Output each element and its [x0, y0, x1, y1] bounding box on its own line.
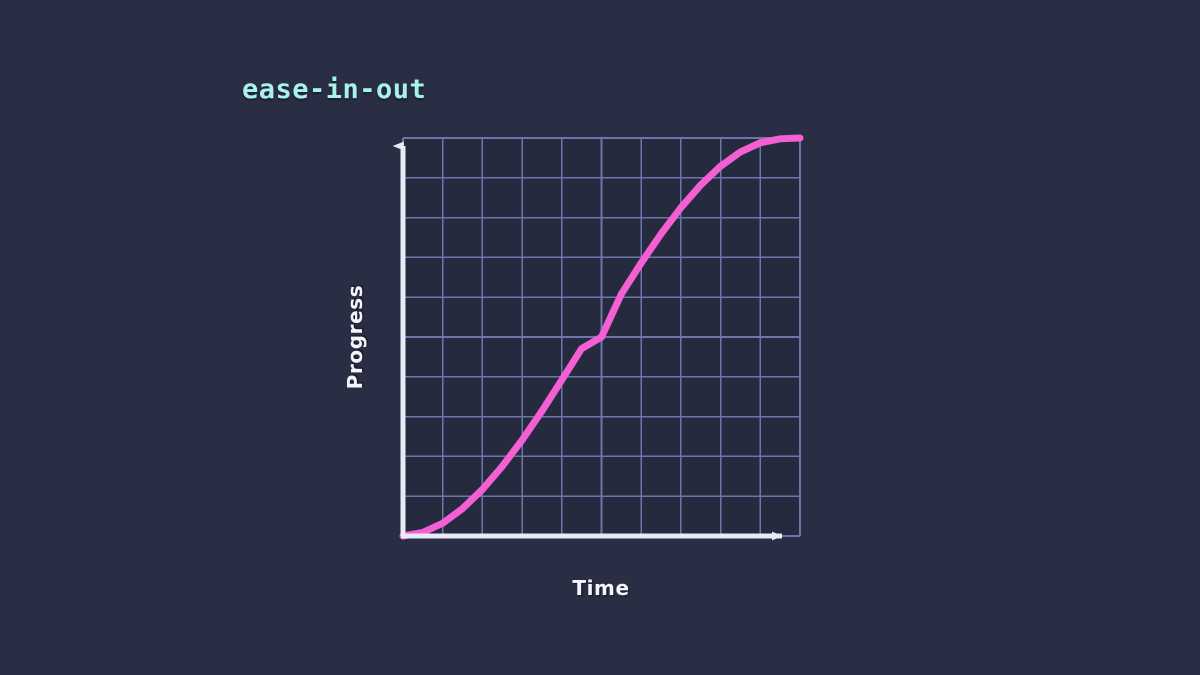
- easing-curve-canvas: ease-in-out: [0, 0, 1200, 675]
- x-axis-label: Time: [572, 576, 629, 600]
- chart-plot-area: [0, 0, 1200, 675]
- y-axis-label: Progress: [343, 285, 367, 390]
